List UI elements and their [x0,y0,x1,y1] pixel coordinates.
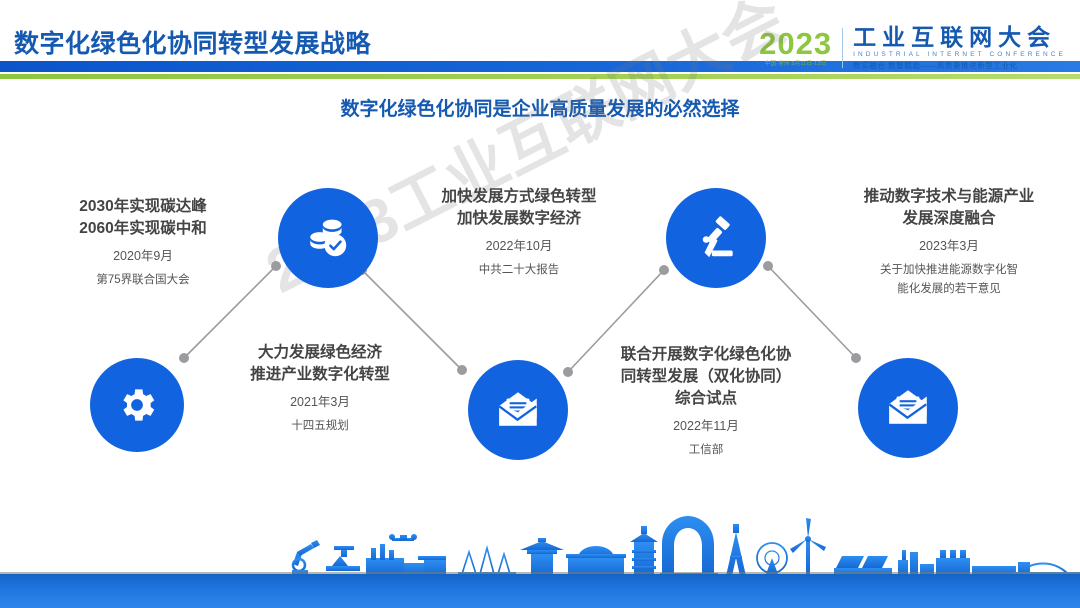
timeline-item-1-date: 2020年9月 [28,247,258,265]
gear-icon [115,383,159,427]
logo-year: 2023 [759,28,832,59]
timeline-node-1[interactable] [90,358,184,452]
coins-check-icon [303,213,353,263]
timeline-node-5[interactable] [858,358,958,458]
timeline-item-2-headline-line-1: 大力发展绿色经济 [205,342,435,364]
timeline-item-3: 加快发展方式绿色转型 加快发展数字经济 2022年10月 中共二十大报告 [403,186,635,279]
timeline-item-2: 大力发展绿色经济 推进产业数字化转型 2021年3月 十四五规划 [205,342,435,435]
timeline-item-5-date: 2023年3月 [826,237,1072,255]
logo-conference-name-en: INDUSTRIAL INTERNET CONFERENCE [853,52,1066,59]
timeline-item-5: 推动数字技术与能源产业 发展深度融合 2023年3月 关于加快推进能源数字化智 … [826,186,1072,299]
divider-green-bar [0,74,1080,79]
logo-name-group: 工业互联网大会 INDUSTRIAL INTERNET CONFERENCE 数… [853,26,1066,69]
city-skyline-silhouette [0,516,1080,576]
timeline-item-3-source: 中共二十大报告 [403,262,635,279]
logo-date-line: 中国·常州 5月11日-13日 [759,62,832,68]
slide-canvas: 数字化绿色化协同转型发展战略 2023 中国·常州 5月11日-13日 工业互联… [0,0,1080,608]
envelope-document-icon [493,385,543,435]
slide-subtitle: 数字化绿色化协同是企业高质量发展的必然选择 [0,94,1080,121]
timeline-node-4[interactable] [468,360,568,460]
timeline-item-5-headline-line-2: 发展深度融合 [826,208,1072,230]
logo-tagline: 数实融合 数智赋能——高质量推进新型工业化 [853,62,1066,70]
timeline-item-5-source-line-2: 能化发展的若干意见 [826,281,1072,298]
timeline-item-2-source: 十四五规划 [205,418,435,435]
timeline-item-5-source-line-1: 关于加快推进能源数字化智 [826,262,1072,279]
logo-divider [842,28,843,68]
footer-decoration [0,516,1080,608]
timeline-item-1-headline-line-2: 2060年实现碳中和 [28,218,258,240]
timeline-item-4-headline-line-2: 同转型发展（双化协同） [595,366,817,388]
timeline-item-3-headline-line-2: 加快发展数字经济 [403,208,635,230]
timeline-item-4-headline-line-3: 综合试点 [595,388,817,410]
timeline-item-4-headline-line-1: 联合开展数字化绿色化协 [595,344,817,366]
timeline-item-4-source: 工信部 [595,442,817,459]
timeline-item-1: 2030年实现碳达峰 2060年实现碳中和 2020年9月 第75界联合国大会 [28,196,258,289]
gavel-pen-icon [691,213,741,263]
timeline-node-3[interactable] [666,188,766,288]
timeline-item-4-date: 2022年11月 [595,417,817,435]
timeline-item-1-headline-line-1: 2030年实现碳达峰 [28,196,258,218]
timeline-item-3-headline-line-1: 加快发展方式绿色转型 [403,186,635,208]
timeline-item-2-headline-line-2: 推进产业数字化转型 [205,364,435,386]
page-title: 数字化绿色化协同转型发展战略 [14,24,371,60]
timeline-item-3-date: 2022年10月 [403,237,635,255]
conference-logo: 2023 中国·常州 5月11日-13日 工业互联网大会 INDUSTRIAL … [759,26,1066,69]
timeline-item-1-source: 第75界联合国大会 [28,272,258,289]
envelope-document-icon [883,383,933,433]
timeline-node-2[interactable] [278,188,378,288]
timeline-item-4: 联合开展数字化绿色化协 同转型发展（双化协同） 综合试点 2022年11月 工信… [595,344,817,459]
timeline-item-2-date: 2021年3月 [205,393,435,411]
timeline-item-5-headline-line-1: 推动数字技术与能源产业 [826,186,1072,208]
logo-conference-name-cn: 工业互联网大会 [853,26,1066,49]
logo-year-group: 2023 中国·常州 5月11日-13日 [759,28,832,68]
footer-blue-band [0,574,1080,608]
